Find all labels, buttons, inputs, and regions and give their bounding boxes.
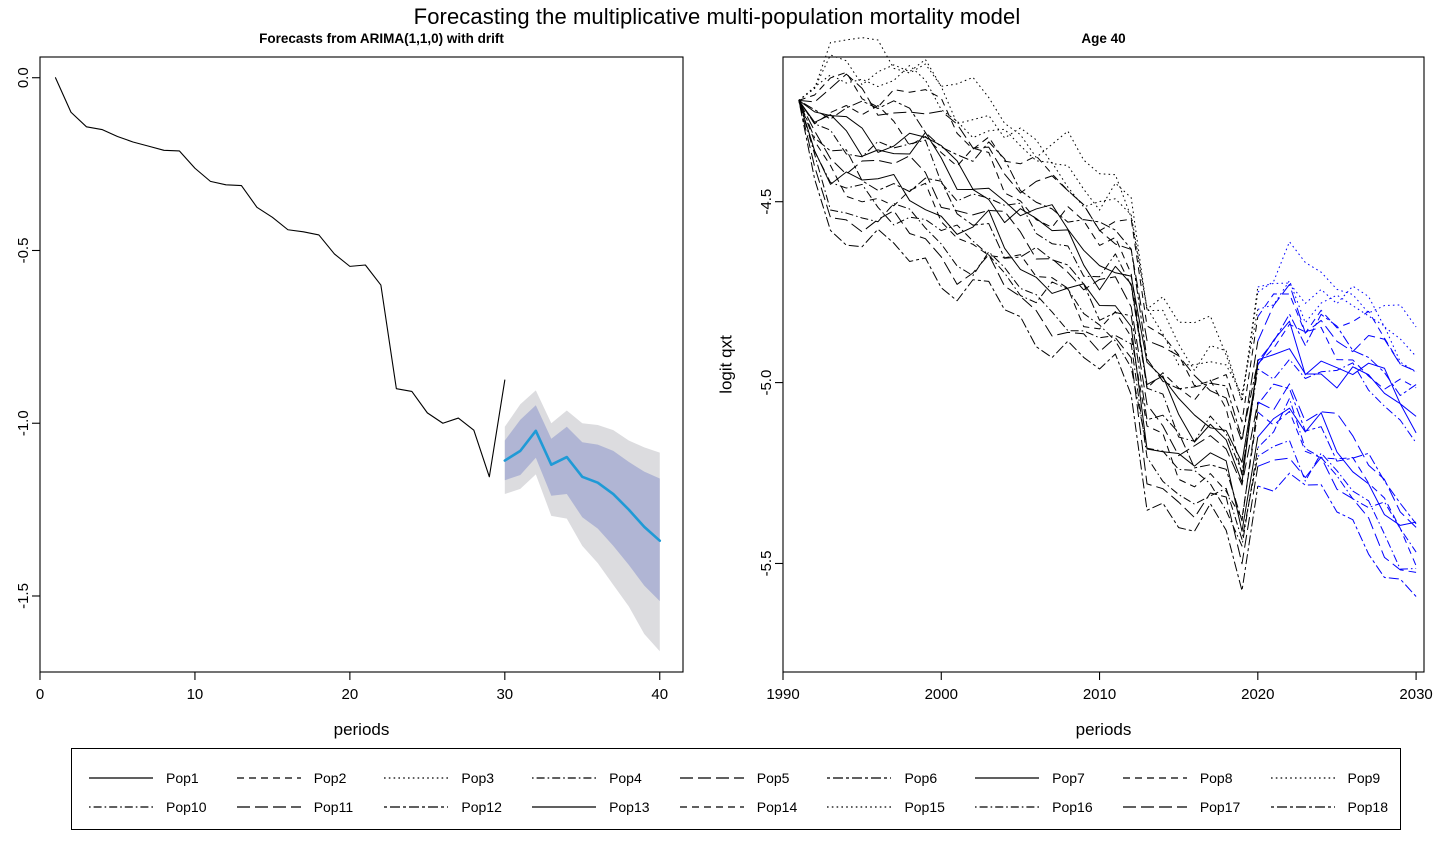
right-history-pop5 (799, 100, 1258, 485)
legend-item-pop1: Pop1 (72, 766, 220, 790)
legend-label: Pop5 (757, 771, 790, 785)
left-xaxis-label: periods (334, 720, 390, 739)
legend-line-sample-icon (1122, 771, 1188, 785)
legend-line-sample-icon (88, 800, 154, 814)
legend-line-sample-icon (826, 771, 892, 785)
legend-item-pop14: Pop14 (663, 795, 811, 819)
right-xtick-label: 2020 (1241, 686, 1274, 703)
legend-item-pop8: Pop8 (1106, 766, 1254, 790)
left-xtick-label: 40 (651, 686, 668, 703)
legend-label: Pop10 (166, 800, 206, 814)
right-plot-frame (783, 57, 1424, 672)
legend-label: Pop8 (1200, 771, 1233, 785)
right-forecast-pop4 (1258, 359, 1416, 442)
left-plot-frame (40, 57, 683, 672)
right-history-pop18 (799, 100, 1258, 590)
legend-item-pop13: Pop13 (515, 795, 663, 819)
left-ytick-label: 0.0 (15, 67, 32, 88)
legend-item-pop2: Pop2 (220, 766, 368, 790)
right-history-pop11 (799, 74, 1258, 441)
right-history-pop7 (799, 100, 1258, 531)
left-ytick-label: -1.0 (15, 410, 32, 436)
right-forecast-pop12 (1258, 384, 1416, 524)
left-ytick-label: -0.5 (15, 238, 32, 264)
left-xtick-label: 0 (36, 686, 44, 703)
right-history-pop15 (799, 65, 1258, 394)
legend-line-sample-icon (531, 771, 597, 785)
plots-canvas: 010203040periods0.0-0.5-1.0-1.5199020002… (0, 0, 1434, 740)
legend-item-pop10: Pop10 (72, 795, 220, 819)
legend-line-sample-icon (1122, 800, 1188, 814)
right-forecast-pop5 (1258, 384, 1416, 528)
right-history-pop14 (799, 100, 1258, 518)
legend-line-sample-icon (383, 800, 449, 814)
legend-line-sample-icon (236, 771, 302, 785)
left-ytick-label: -1.5 (15, 583, 32, 609)
right-ytick-label: -4.5 (758, 189, 775, 215)
legend-label: Pop9 (1348, 771, 1381, 785)
legend-row: Pop1Pop2Pop3Pop4Pop5Pop6Pop7Pop8Pop9 (72, 766, 1402, 790)
legend-line-sample-icon (679, 800, 745, 814)
legend-line-sample-icon (88, 771, 154, 785)
figure-root: Forecasting the multiplicative multi-pop… (0, 0, 1434, 847)
legend-label: Pop1 (166, 771, 199, 785)
right-forecast-pop3 (1258, 283, 1416, 356)
right-forecast-pop17 (1258, 457, 1416, 572)
right-history-pop1 (799, 100, 1258, 462)
right-history-pop12 (799, 100, 1258, 520)
legend-line-sample-icon (826, 800, 892, 814)
legend-item-pop9: Pop9 (1254, 766, 1402, 790)
legend-item-pop17: Pop17 (1106, 795, 1254, 819)
legend-label: Pop17 (1200, 800, 1240, 814)
right-forecast-pop16 (1258, 441, 1416, 570)
legend-line-sample-icon (679, 771, 745, 785)
left-xtick-label: 10 (187, 686, 204, 703)
legend-item-pop7: Pop7 (958, 766, 1106, 790)
legend-label: Pop2 (314, 771, 347, 785)
legend-label: Pop15 (904, 800, 944, 814)
right-ytick-label: -5.0 (758, 370, 775, 396)
right-ytick-label: -5.5 (758, 551, 775, 577)
right-forecast-pop13 (1258, 349, 1416, 433)
right-forecast-pop6 (1258, 314, 1416, 395)
legend-line-sample-icon (1270, 771, 1336, 785)
legend-line-sample-icon (531, 800, 597, 814)
right-history-pop16 (799, 100, 1258, 539)
legend-label: Pop14 (757, 800, 797, 814)
legend-line-sample-icon (974, 800, 1040, 814)
left-xtick-label: 20 (342, 686, 359, 703)
right-xtick-label: 1990 (766, 686, 799, 703)
legend-item-pop5: Pop5 (663, 766, 811, 790)
right-yaxis-label: logit qxt (716, 335, 735, 394)
right-forecast-pop10 (1258, 398, 1416, 552)
right-history-pop4 (799, 100, 1258, 472)
right-forecast-pop8 (1258, 324, 1416, 389)
legend-label: Pop6 (904, 771, 937, 785)
legend-row: Pop10Pop11Pop12Pop13Pop14Pop15Pop16Pop17… (72, 795, 1402, 819)
right-history-pop2 (799, 72, 1258, 421)
legend-label: Pop12 (461, 800, 501, 814)
legend-item-pop12: Pop12 (367, 795, 515, 819)
left-series-history (55, 78, 504, 477)
legend-label: Pop18 (1348, 800, 1388, 814)
legend-item-pop3: Pop3 (367, 766, 515, 790)
left-xtick-label: 30 (496, 686, 513, 703)
legend-line-sample-icon (236, 800, 302, 814)
right-forecast-pop7 (1258, 408, 1416, 525)
right-forecast-pop9 (1258, 242, 1416, 327)
legend-line-sample-icon (974, 771, 1040, 785)
legend-line-sample-icon (383, 771, 449, 785)
right-history-pop6 (799, 100, 1258, 438)
legend-label: Pop4 (609, 771, 642, 785)
legend-item-pop6: Pop6 (810, 766, 958, 790)
population-legend: Pop1Pop2Pop3Pop4Pop5Pop6Pop7Pop8Pop9 Pop… (71, 748, 1401, 830)
legend-label: Pop11 (314, 800, 353, 814)
right-xtick-label: 2030 (1399, 686, 1432, 703)
legend-item-pop16: Pop16 (958, 795, 1106, 819)
legend-line-sample-icon (1270, 800, 1336, 814)
legend-item-pop15: Pop15 (810, 795, 958, 819)
legend-item-pop4: Pop4 (515, 766, 663, 790)
legend-label: Pop16 (1052, 800, 1092, 814)
legend-item-pop11: Pop11 (220, 795, 368, 819)
right-history-pop8 (799, 100, 1258, 474)
right-xtick-label: 2010 (1083, 686, 1116, 703)
legend-label: Pop3 (461, 771, 494, 785)
legend-label: Pop7 (1052, 771, 1085, 785)
right-xtick-label: 2000 (925, 686, 958, 703)
right-history-pop10 (799, 100, 1258, 546)
right-xaxis-label: periods (1076, 720, 1132, 739)
legend-label: Pop13 (609, 800, 649, 814)
legend-item-pop18: Pop18 (1254, 795, 1402, 819)
